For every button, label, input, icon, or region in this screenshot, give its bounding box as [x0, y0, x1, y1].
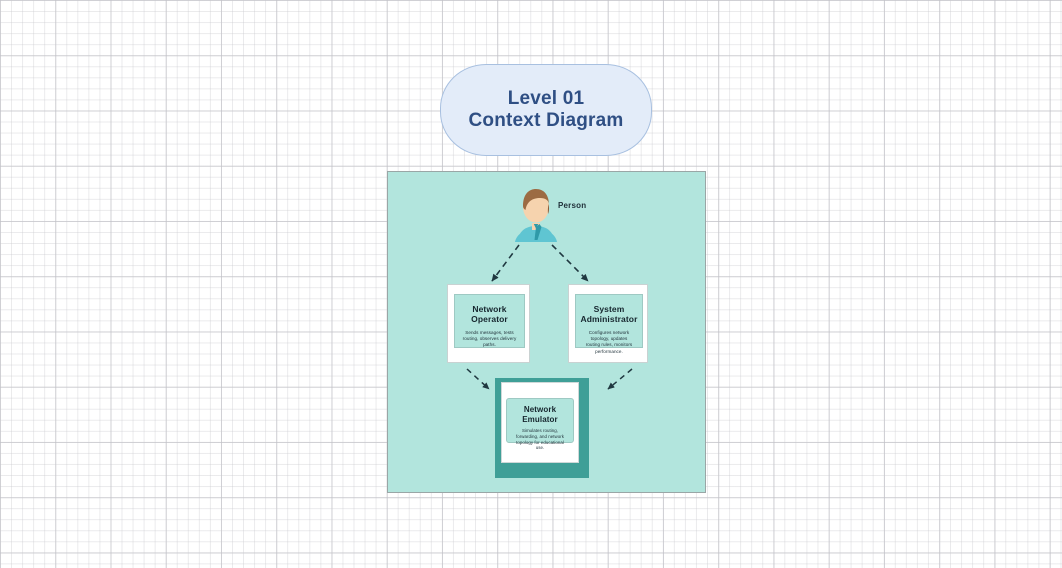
node-system-administrator-description: Configures network topology, updates rou… — [576, 330, 642, 355]
diagram-title-banner: Level 01 Context Diagram — [440, 64, 652, 156]
node-network-emulator-title: Network Emulator — [522, 405, 557, 424]
node-system-administrator[interactable]: System Administrator Configures network … — [568, 284, 648, 363]
node-network-emulator-description: Simulates routing, forwarding, and netwo… — [507, 428, 573, 451]
node-network-operator[interactable]: Network Operator Sends messages, tests r… — [447, 284, 530, 363]
node-network-operator-title: Network Operator — [471, 304, 508, 324]
node-system-administrator-panel: System Administrator Configures network … — [575, 294, 643, 348]
node-network-operator-panel: Network Operator Sends messages, tests r… — [454, 294, 525, 348]
node-network-emulator-panel: Network Emulator Simulates routing, forw… — [506, 398, 574, 443]
title-line-2: Context Diagram — [468, 110, 623, 132]
title-line-1: Level 01 — [508, 88, 585, 110]
person-avatar-icon — [505, 180, 567, 242]
person-label: Person — [558, 201, 586, 210]
node-system-administrator-title: System Administrator — [580, 304, 637, 324]
diagram-canvas: Level 01 Context Diagram Person — [0, 0, 1062, 568]
node-network-operator-description: Sends messages, tests routing, observes … — [455, 330, 524, 349]
